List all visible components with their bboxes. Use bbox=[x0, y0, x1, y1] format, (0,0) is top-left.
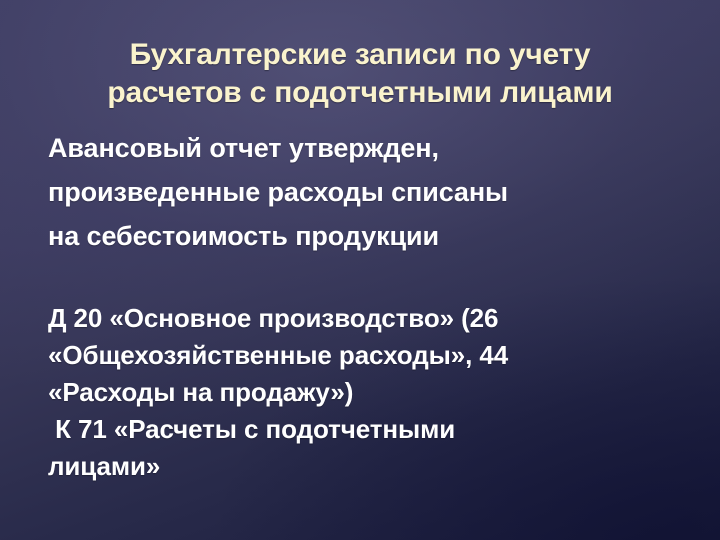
paragraph-2-line-2: «Общехозяйственные расходы», 44 bbox=[48, 337, 698, 374]
paragraph-1-line-1: Авансовый отчет утвержден, bbox=[48, 126, 688, 170]
slide-title-line-2: расчетов с подотчетными лицами bbox=[36, 74, 684, 112]
slide-content: Бухгалтерские записи по учету расчетов с… bbox=[0, 0, 720, 540]
paragraph-2-line-4: К 71 «Расчеты с подотчетными bbox=[48, 411, 698, 448]
paragraph-2-line-1: Д 20 «Основное производство» (26 bbox=[48, 300, 698, 337]
paragraph-accounting-entry: Д 20 «Основное производство» (26 «Общехо… bbox=[48, 300, 698, 485]
paragraph-1-line-3: на себестоимость продукции bbox=[48, 214, 688, 258]
paragraph-2-line-5: лицами» bbox=[48, 448, 698, 485]
paragraph-2-line-3: «Расходы на продажу») bbox=[48, 374, 698, 411]
slide-title-line-1: Бухгалтерские записи по учету bbox=[36, 36, 684, 74]
paragraph-1-line-2: произведенные расходы списаны bbox=[48, 170, 688, 214]
presentation-slide: Бухгалтерские записи по учету расчетов с… bbox=[0, 0, 720, 540]
paragraph-approved-report: Авансовый отчет утвержден, произведенные… bbox=[48, 126, 688, 258]
slide-title: Бухгалтерские записи по учету расчетов с… bbox=[36, 36, 684, 112]
